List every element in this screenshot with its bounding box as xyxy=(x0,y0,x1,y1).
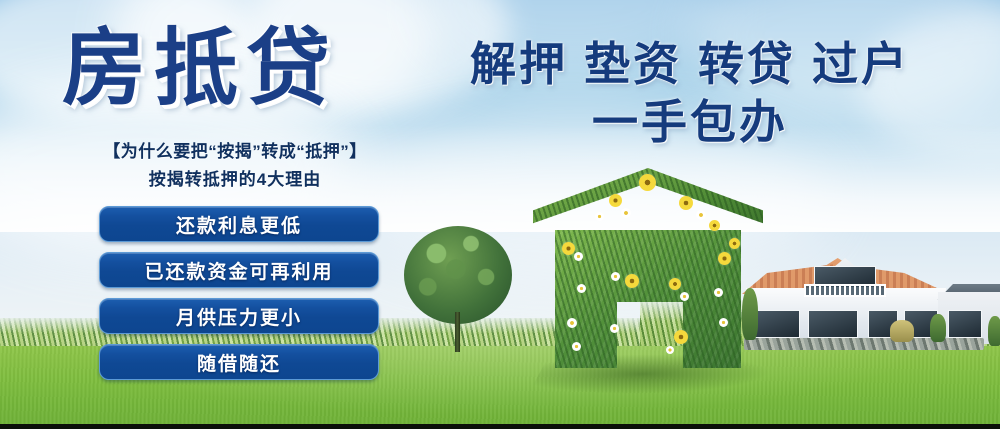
flower-icon xyxy=(639,174,656,191)
flower-icon xyxy=(621,208,631,218)
reason-button-list: 还款利息更低 已还款资金可再利用 月供压力更小 随借随还 xyxy=(99,206,379,390)
shrub-icon xyxy=(988,316,1000,346)
villa-window xyxy=(948,310,982,338)
subtitle-reasons-count: 按揭转抵押的4大理由 xyxy=(0,165,470,190)
page-title: 房抵贷 xyxy=(62,26,402,110)
tree-icon xyxy=(404,226,512,348)
subtitle-question: 【为什么要把“按揭”转成“抵押”】 xyxy=(0,137,470,162)
bottom-edge xyxy=(0,424,1000,429)
service-word-2: 垫资 xyxy=(584,38,682,90)
flower-icon xyxy=(625,274,639,288)
service-word-1: 解押 xyxy=(470,38,568,90)
flower-icon xyxy=(714,288,723,297)
service-word-4: 过户 xyxy=(812,38,910,90)
flower-icon xyxy=(574,252,583,261)
reason-button-lower-interest[interactable]: 还款利息更低 xyxy=(99,206,379,242)
flower-icon xyxy=(669,278,681,290)
tree-crown xyxy=(404,226,512,324)
grass-house-body xyxy=(555,230,741,368)
service-word-3: 转贷 xyxy=(698,38,796,90)
villa-stone-wall xyxy=(744,338,984,350)
grass-house-illustration xyxy=(533,168,763,368)
shrub-icon xyxy=(890,320,914,342)
flower-icon xyxy=(696,210,706,220)
villa-photo xyxy=(742,258,1000,362)
flower-icon xyxy=(610,324,619,333)
flower-icon xyxy=(674,330,688,344)
headline-one-stop: 一手包办 xyxy=(470,99,910,145)
flower-icon xyxy=(729,238,740,249)
flower-icon xyxy=(718,252,731,265)
shrub-icon xyxy=(742,288,758,340)
villa-window xyxy=(808,310,858,338)
flower-icon xyxy=(595,212,604,221)
flower-icon xyxy=(577,284,586,293)
flower-icon xyxy=(609,194,622,207)
flower-icon xyxy=(666,346,674,354)
reason-button-reusable-funds[interactable]: 已还款资金可再利用 xyxy=(99,252,379,288)
flower-icon xyxy=(709,220,720,231)
flower-icon xyxy=(679,196,693,210)
reason-button-lower-monthly[interactable]: 月供压力更小 xyxy=(99,298,379,334)
flower-icon xyxy=(562,242,575,255)
reason-button-flexible-repay[interactable]: 随借随还 xyxy=(99,344,379,380)
flower-icon xyxy=(567,318,577,328)
flower-icon xyxy=(572,342,581,351)
promo-banner: 房抵贷 【为什么要把“按揭”转成“抵押”】 按揭转抵押的4大理由 还款利息更低 … xyxy=(0,0,1000,429)
flower-icon xyxy=(680,292,689,301)
villa-balcony xyxy=(804,284,886,297)
flower-icon xyxy=(611,272,620,281)
headline-services: 解押垫资转贷过户 xyxy=(470,41,1000,87)
flower-icon xyxy=(719,318,728,327)
shrub-icon xyxy=(930,314,946,342)
villa-window xyxy=(754,310,800,338)
tree-trunk xyxy=(455,312,460,352)
